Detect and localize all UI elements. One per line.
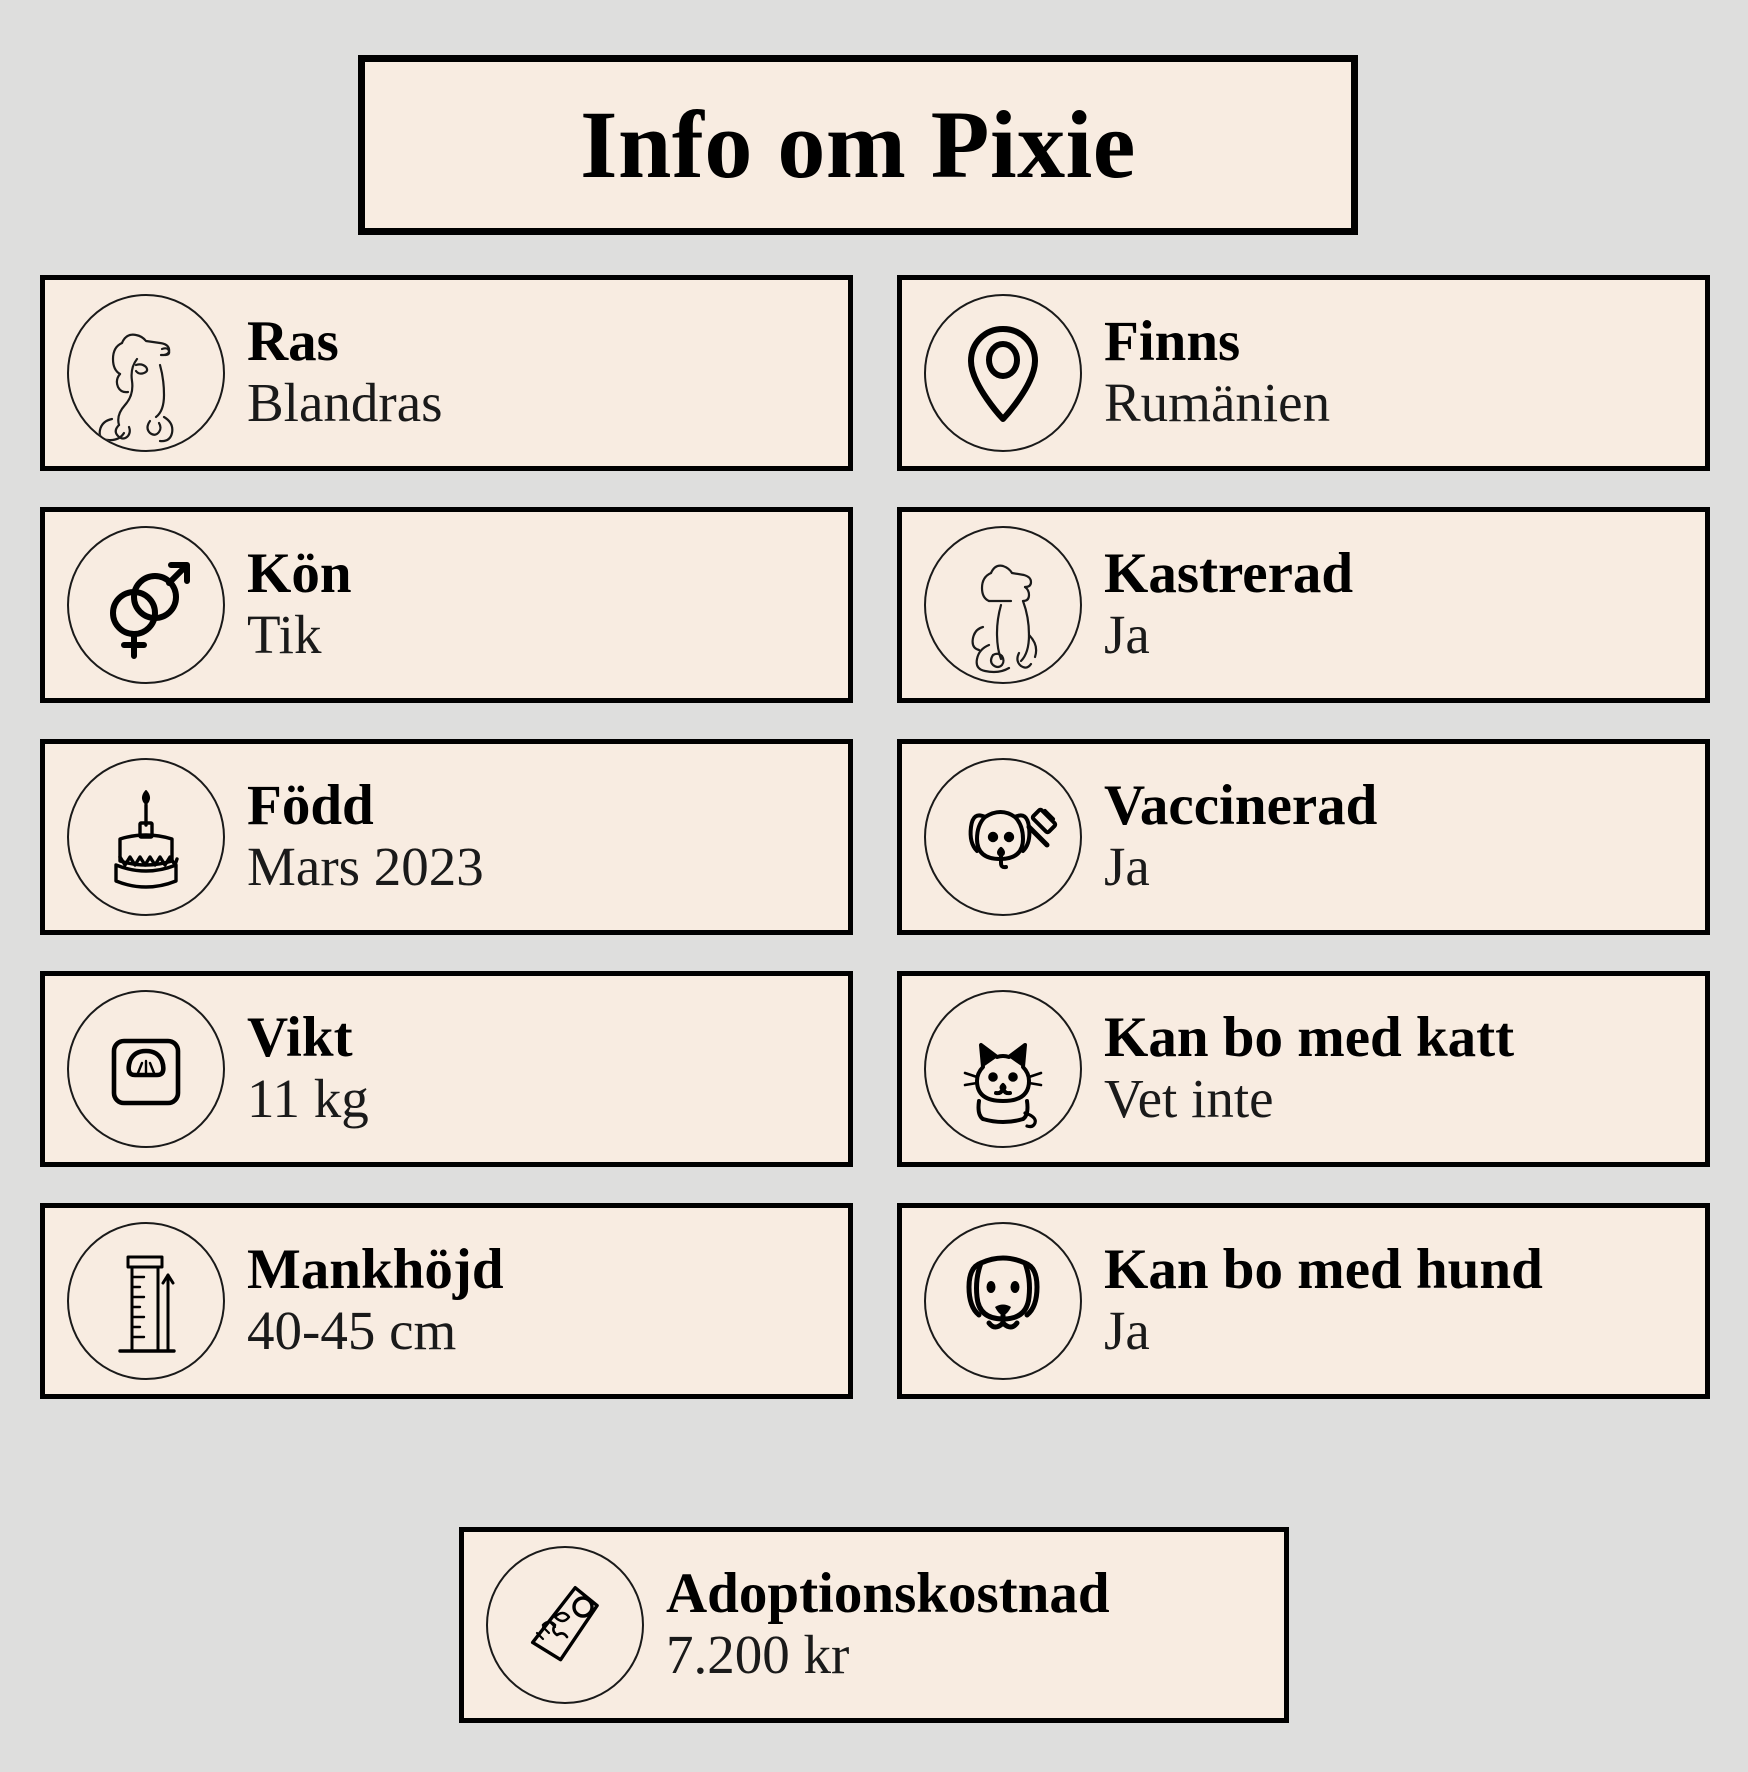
sitting-dog-line-icon bbox=[924, 526, 1082, 684]
location-pin-icon bbox=[924, 294, 1082, 452]
info-text-vikt: Vikt 11 kg bbox=[247, 1009, 369, 1129]
info-cell-mankhojd: Mankhöjd 40-45 cm bbox=[40, 1203, 853, 1399]
info-cell-kon: Kön Tik bbox=[40, 507, 853, 703]
ruler-height-icon bbox=[67, 1222, 225, 1380]
info-text-kan-bo-med-katt: Kan bo med katt Vet inte bbox=[1104, 1009, 1514, 1129]
info-cell-kan-bo-med-hund: Kan bo med hund Ja bbox=[897, 1203, 1710, 1399]
info-value: Mars 2023 bbox=[247, 837, 484, 896]
info-box-kan-bo-med-katt: Kan bo med katt Vet inte bbox=[897, 971, 1710, 1167]
info-label: Kön bbox=[247, 545, 352, 603]
info-text-mankhojd: Mankhöjd 40-45 cm bbox=[247, 1241, 504, 1361]
info-row: Kön Tik bbox=[40, 507, 1710, 703]
info-label: Kan bo med katt bbox=[1104, 1009, 1514, 1067]
info-text-finns: Finns Rumänien bbox=[1104, 313, 1330, 433]
info-label: Kan bo med hund bbox=[1104, 1241, 1543, 1299]
info-value: Tik bbox=[247, 605, 352, 664]
pet-info-card: Info om Pixie bbox=[0, 0, 1748, 1772]
info-label: Vikt bbox=[247, 1009, 369, 1067]
info-label: Vaccinerad bbox=[1104, 777, 1377, 835]
info-row: Mankhöjd 40-45 cm bbox=[40, 1203, 1710, 1399]
dog-syringe-icon bbox=[924, 758, 1082, 916]
info-value: 11 kg bbox=[247, 1069, 369, 1128]
info-row: Vikt 11 kg bbox=[40, 971, 1710, 1167]
info-label: Mankhöjd bbox=[247, 1241, 504, 1299]
info-cell-kastrerad: Kastrerad Ja bbox=[897, 507, 1710, 703]
info-box-adoptionskostnad: Adoptionskostnad 7.200 kr bbox=[459, 1527, 1289, 1723]
info-value: Ja bbox=[1104, 837, 1377, 896]
info-text-ras: Ras Blandras bbox=[247, 313, 443, 433]
info-box-fodd: Född Mars 2023 bbox=[40, 739, 853, 935]
weight-scale-icon bbox=[67, 990, 225, 1148]
info-box-vaccinerad: Vaccinerad Ja bbox=[897, 739, 1710, 935]
info-value: Blandras bbox=[247, 373, 443, 432]
info-text-adoptionskostnad: Adoptionskostnad 7.200 kr bbox=[666, 1565, 1110, 1685]
info-box-vikt: Vikt 11 kg bbox=[40, 971, 853, 1167]
info-text-fodd: Född Mars 2023 bbox=[247, 777, 484, 897]
info-label: Adoptionskostnad bbox=[666, 1565, 1110, 1623]
info-value: Ja bbox=[1104, 1301, 1543, 1360]
info-value: Vet inte bbox=[1104, 1069, 1514, 1128]
info-box-mankhojd: Mankhöjd 40-45 cm bbox=[40, 1203, 853, 1399]
info-cell-ras: Ras Blandras bbox=[40, 275, 853, 471]
info-grid: Ras Blandras Finns Rumänien bbox=[40, 275, 1710, 1435]
info-label: Kastrerad bbox=[1104, 545, 1353, 603]
info-cell-vaccinerad: Vaccinerad Ja bbox=[897, 739, 1710, 935]
info-row: Född Mars 2023 bbox=[40, 739, 1710, 935]
info-value: 7.200 kr bbox=[666, 1625, 1110, 1684]
adoption-cost-row: Adoptionskostnad 7.200 kr bbox=[0, 1527, 1748, 1723]
info-box-kan-bo-med-hund: Kan bo med hund Ja bbox=[897, 1203, 1710, 1399]
info-text-kan-bo-med-hund: Kan bo med hund Ja bbox=[1104, 1241, 1543, 1361]
info-cell-fodd: Född Mars 2023 bbox=[40, 739, 853, 935]
info-label: Född bbox=[247, 777, 484, 835]
info-text-kon: Kön Tik bbox=[247, 545, 352, 665]
info-row: Ras Blandras Finns Rumänien bbox=[40, 275, 1710, 471]
info-cell-vikt: Vikt 11 kg bbox=[40, 971, 853, 1167]
info-box-finns: Finns Rumänien bbox=[897, 275, 1710, 471]
info-box-kastrerad: Kastrerad Ja bbox=[897, 507, 1710, 703]
info-label: Finns bbox=[1104, 313, 1330, 371]
info-box-ras: Ras Blandras bbox=[40, 275, 853, 471]
birthday-cake-icon bbox=[67, 758, 225, 916]
info-text-vaccinerad: Vaccinerad Ja bbox=[1104, 777, 1377, 897]
page-title: Info om Pixie bbox=[580, 97, 1136, 193]
gender-symbols-icon bbox=[67, 526, 225, 684]
dog-line-art-icon bbox=[67, 294, 225, 452]
info-text-kastrerad: Kastrerad Ja bbox=[1104, 545, 1353, 665]
price-tag-icon bbox=[486, 1546, 644, 1704]
info-value: Ja bbox=[1104, 605, 1353, 664]
info-value: Rumänien bbox=[1104, 373, 1330, 432]
info-cell-kan-bo-med-katt: Kan bo med katt Vet inte bbox=[897, 971, 1710, 1167]
info-box-kon: Kön Tik bbox=[40, 507, 853, 703]
info-value: 40-45 cm bbox=[247, 1301, 504, 1360]
cat-icon bbox=[924, 990, 1082, 1148]
page-title-banner: Info om Pixie bbox=[358, 55, 1358, 235]
info-cell-finns: Finns Rumänien bbox=[897, 275, 1710, 471]
dog-face-icon bbox=[924, 1222, 1082, 1380]
info-label: Ras bbox=[247, 313, 443, 371]
